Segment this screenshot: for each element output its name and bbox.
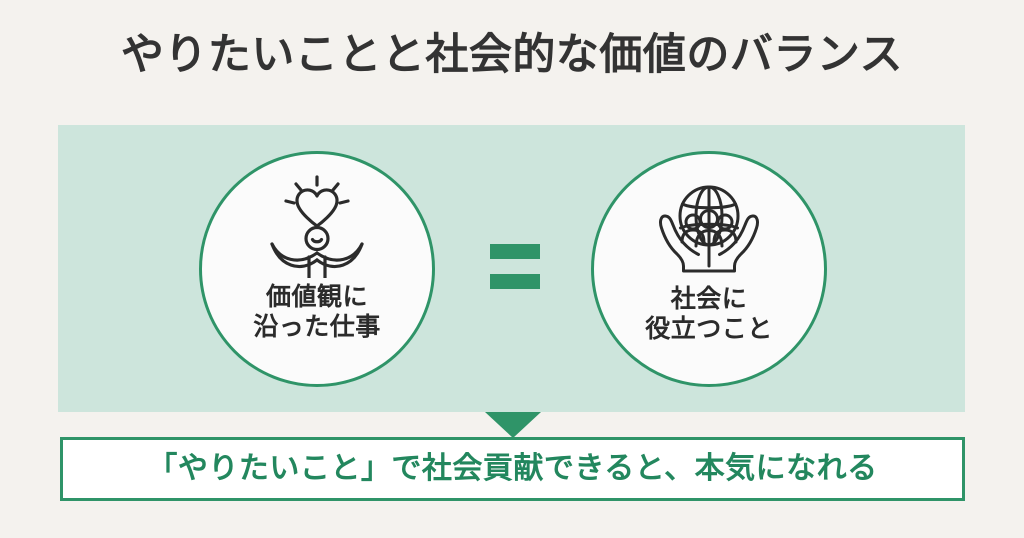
equals-bar-top xyxy=(490,244,540,259)
concept-circle-values-work[interactable]: 価値観に 沿った仕事 xyxy=(199,151,435,387)
arrow-down-icon xyxy=(485,412,541,438)
conclusion-banner-text: 「やりたいこと」で社会貢献できると、本気になれる xyxy=(147,451,877,487)
conclusion-banner: 「やりたいこと」で社会貢献できると、本気になれる xyxy=(60,437,965,501)
equals-sign xyxy=(490,244,540,292)
concept-circle-label: 社会に 役立つこと xyxy=(645,284,773,344)
concept-circle-label: 価値観に 沿った仕事 xyxy=(253,282,381,342)
person-with-heart-icon xyxy=(265,174,369,278)
page-title: やりたいことと社会的な価値のバランス xyxy=(0,29,1024,81)
equals-bar-bottom xyxy=(490,274,540,289)
balance-panel: 価値観に 沿った仕事 xyxy=(58,125,965,412)
concept-circle-social-contribution[interactable]: 社会に 役立つこと xyxy=(591,151,827,387)
hands-holding-globe-people-icon xyxy=(657,178,761,278)
slide-canvas: やりたいことと社会的な価値のバランス xyxy=(0,0,1024,538)
